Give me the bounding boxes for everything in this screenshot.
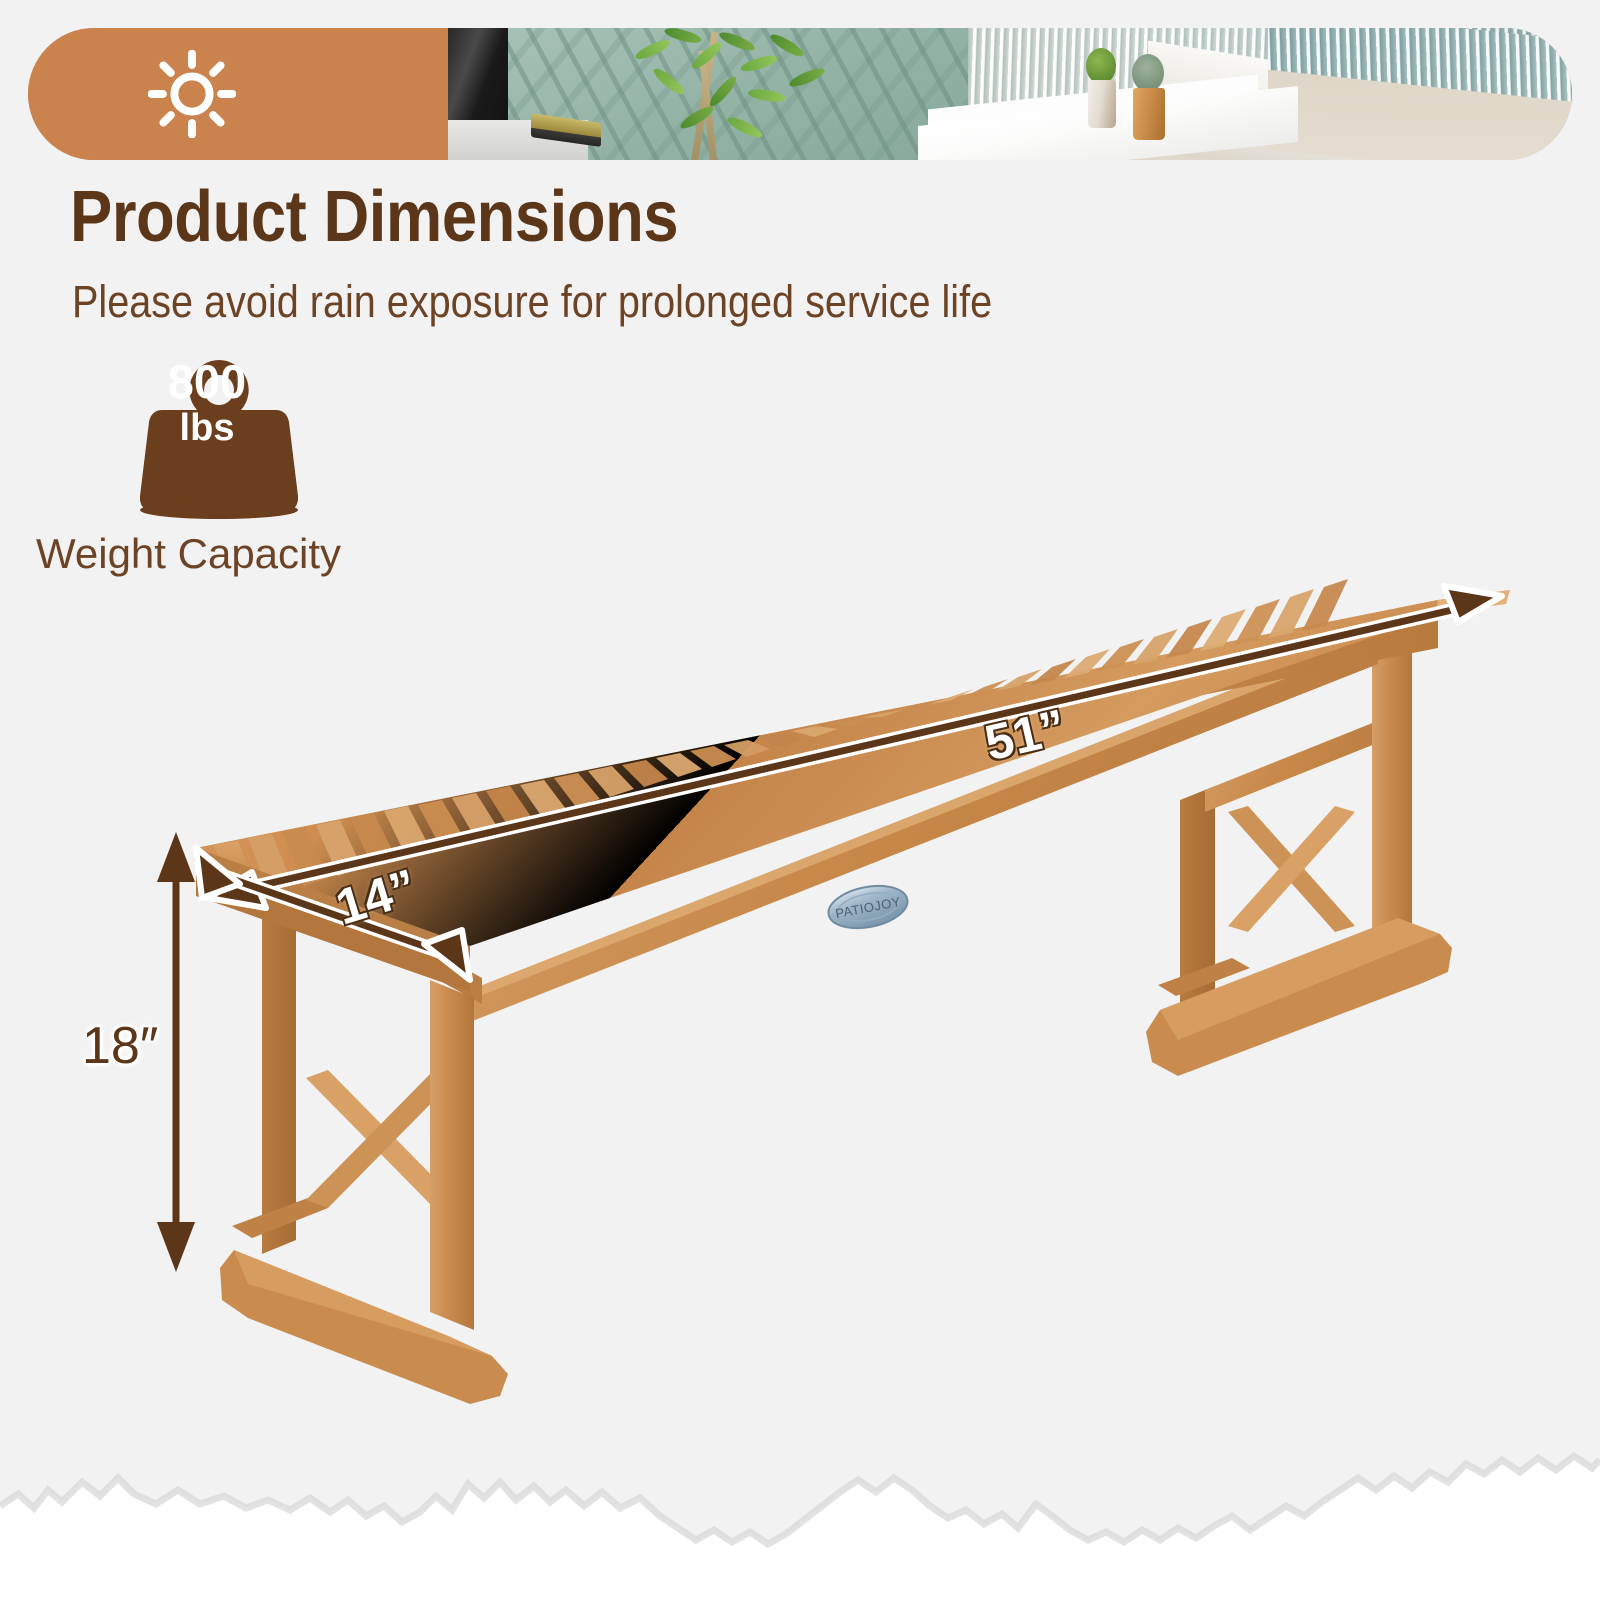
infographic-page: Product Dimensions Please avoid rain exp… [0, 0, 1600, 1600]
arrow-height [157, 832, 195, 1272]
banner-photo [388, 28, 1572, 160]
header-banner [28, 28, 1572, 160]
photo-succulent [1132, 54, 1164, 92]
photo-succulent [1086, 48, 1116, 84]
photo-pot [1133, 88, 1165, 140]
brand-badge: PATIOJOY [825, 880, 911, 935]
torn-paper-edge [0, 1420, 1600, 1600]
photo-scene [388, 28, 1572, 160]
photo-pot [1088, 80, 1116, 128]
sun-icon [148, 50, 236, 138]
bench-illustration: PATIOJOY [0, 0, 1600, 1600]
banner-accent-panel [28, 28, 448, 160]
dimension-label-height: 18″ [82, 1016, 158, 1076]
